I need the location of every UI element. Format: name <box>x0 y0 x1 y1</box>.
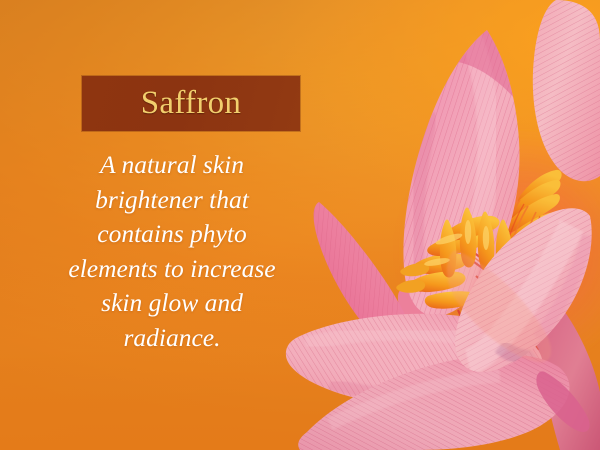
description-line: radiance. <box>28 321 316 356</box>
description-line: contains phyto <box>28 217 316 252</box>
description-line: elements to increase <box>28 252 316 287</box>
page-title: Saffron <box>141 87 241 120</box>
title-banner: Saffron <box>82 76 300 131</box>
description-line: brightener that <box>28 183 316 218</box>
description-line: A natural skin <box>28 148 316 183</box>
description-text: A natural skin brightener that contains … <box>28 148 316 355</box>
description-line: skin glow and <box>28 286 316 321</box>
saffron-ingredient-card: Saffron A natural skin brightener that c… <box>0 0 600 450</box>
